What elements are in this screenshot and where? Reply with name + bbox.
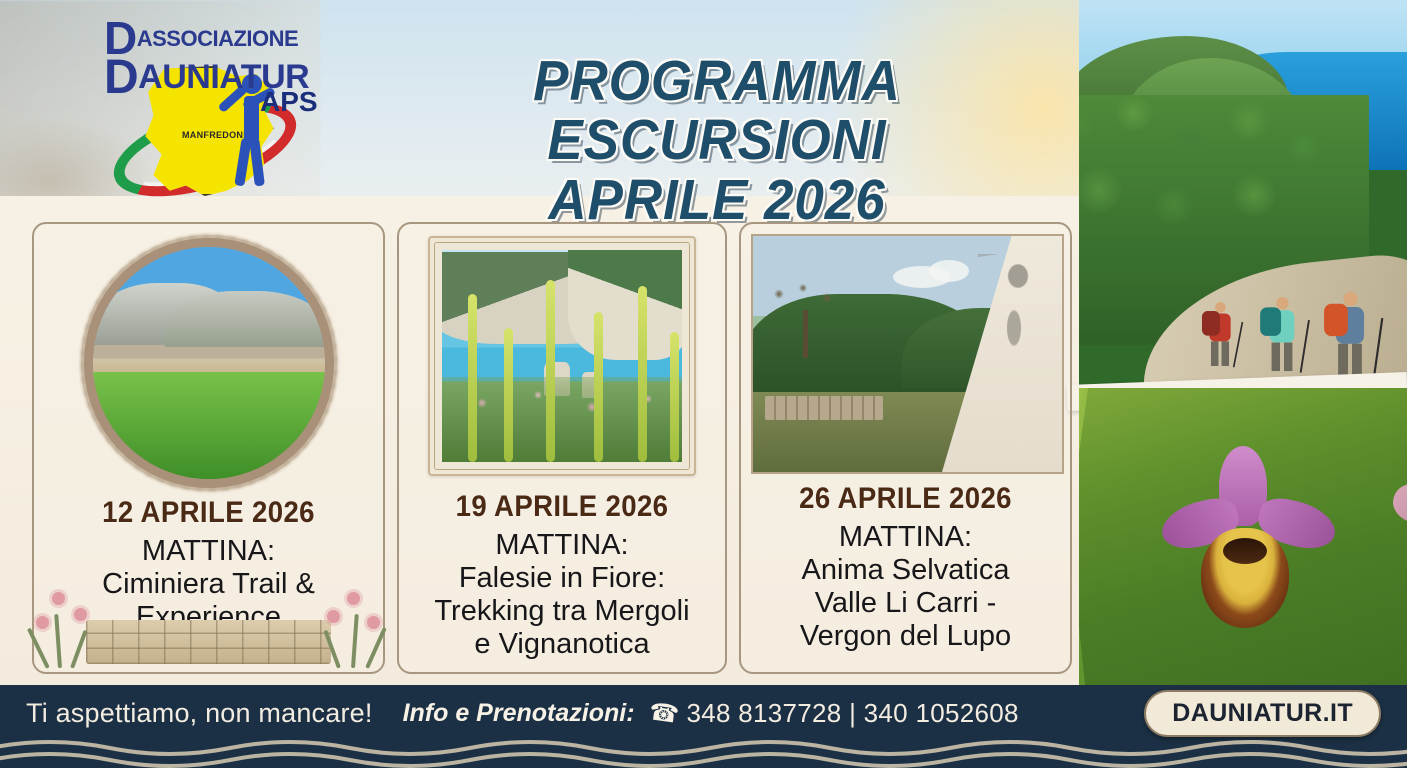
card-1-text: 12 APRILE 2026 MATTINA: Ciminiera Trail …	[40, 496, 377, 634]
page-title-line1: PROGRAMMA ESCURSIONI	[378, 52, 1057, 171]
footer-phone-numbers[interactable]: 348 8137728 | 340 1052608	[686, 698, 1018, 729]
card-3-description-line3: Vergon del Lupo	[747, 620, 1064, 653]
card-2-text: 19 APRILE 2026 MATTINA: Falesie in Fiore…	[405, 490, 719, 661]
card-1-image	[84, 238, 334, 488]
page-title: PROGRAMMA ESCURSIONI APRILE 2026	[378, 52, 1057, 230]
orchid-flower	[1161, 446, 1336, 636]
card-1-description-line2: Experience	[40, 601, 377, 634]
association-logo: MANFREDONI DASSOCIAZIONE DAUNIATUR APS	[100, 14, 325, 199]
poster-root: MANFREDONI DASSOCIAZIONE DAUNIATUR APS P…	[0, 0, 1407, 768]
footer-bar: Ti aspettiamo, non mancare! Info e Preno…	[0, 685, 1407, 768]
excursion-card-1[interactable]: 12 APRILE 2026 MATTINA: Ciminiera Trail …	[32, 222, 385, 674]
excursion-cards: 12 APRILE 2026 MATTINA: Ciminiera Trail …	[32, 222, 1082, 674]
footer-welcome-text: Ti aspettiamo, non mancare!	[26, 698, 373, 729]
hiker-figure-teal	[1270, 297, 1295, 371]
hiker-figure-blue	[1336, 292, 1364, 376]
excursion-card-3[interactable]: 26 APRILE 2026 MATTINA: Anima Selvatica …	[739, 222, 1072, 674]
card-3-image	[751, 234, 1064, 474]
card-2-description-line1: Falesie in Fiore:	[405, 562, 719, 595]
card-3-date: 26 APRILE 2026	[760, 482, 1052, 516]
card-2-description-line2: Trekking tra Mergoli	[405, 595, 719, 628]
card-1-date: 12 APRILE 2026	[53, 496, 363, 530]
phone-icon: ☎	[647, 697, 681, 730]
card-3-time-label: MATTINA:	[747, 521, 1064, 554]
hiker-figure-red	[1209, 302, 1230, 366]
website-button[interactable]: DAUNIATUR.IT	[1144, 690, 1381, 737]
card-3-description-line1: Anima Selvatica	[747, 554, 1064, 587]
excursion-card-2[interactable]: 19 APRILE 2026 MATTINA: Falesie in Fiore…	[397, 222, 727, 674]
photo-hikers	[1079, 0, 1407, 395]
logo-initial-d2: D	[104, 51, 138, 104]
card-2-date: 19 APRILE 2026	[418, 490, 707, 524]
card-3-statue-sketch	[978, 254, 1050, 434]
logo-text-aps: APS	[260, 86, 318, 118]
card-2-image	[428, 236, 696, 476]
footer-content-row: Ti aspettiamo, non mancare! Info e Preno…	[0, 685, 1407, 741]
card-1-description-line1: Ciminiera Trail &	[40, 568, 377, 601]
photo-orchid	[1079, 388, 1407, 694]
card-2-time-label: MATTINA:	[405, 529, 719, 562]
footer-info-label: Info e Prenotazioni:	[403, 699, 635, 728]
logo-word-associazione: ASSOCIAZIONE	[137, 26, 298, 51]
page-title-line2: APRILE 2026	[378, 171, 1057, 230]
card-3-description-line2: Valle Li Carri -	[747, 587, 1064, 620]
card-1-time-label: MATTINA:	[40, 535, 377, 568]
card-2-description-line3: e Vignanotica	[405, 628, 719, 661]
footer-wave-decoration	[0, 738, 1407, 768]
card-3-text: 26 APRILE 2026 MATTINA: Anima Selvatica …	[747, 482, 1064, 653]
